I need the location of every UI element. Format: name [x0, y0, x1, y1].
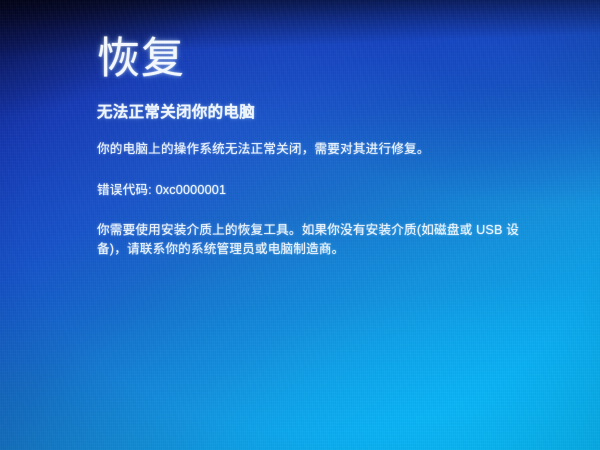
page-title: 恢复: [97, 34, 544, 84]
recovery-description-text: 你的电脑上的操作系统无法正常关闭，需要对其进行修复。: [97, 140, 544, 159]
recovery-subtitle: 无法正常关闭你的电脑: [97, 102, 544, 123]
recovery-message-block: 恢复 无法正常关闭你的电脑 你的电脑上的操作系统无法正常关闭，需要对其进行修复。…: [96, 34, 544, 259]
error-code-text: 错误代码: 0xc0000001: [97, 181, 544, 200]
recovery-screen: 恢复 无法正常关闭你的电脑 你的电脑上的操作系统无法正常关闭，需要对其进行修复。…: [0, 0, 600, 450]
recovery-instructions-text: 你需要使用安装介质上的恢复工具。如果你没有安装介质(如磁盘或 USB 设备)，请…: [97, 221, 533, 259]
